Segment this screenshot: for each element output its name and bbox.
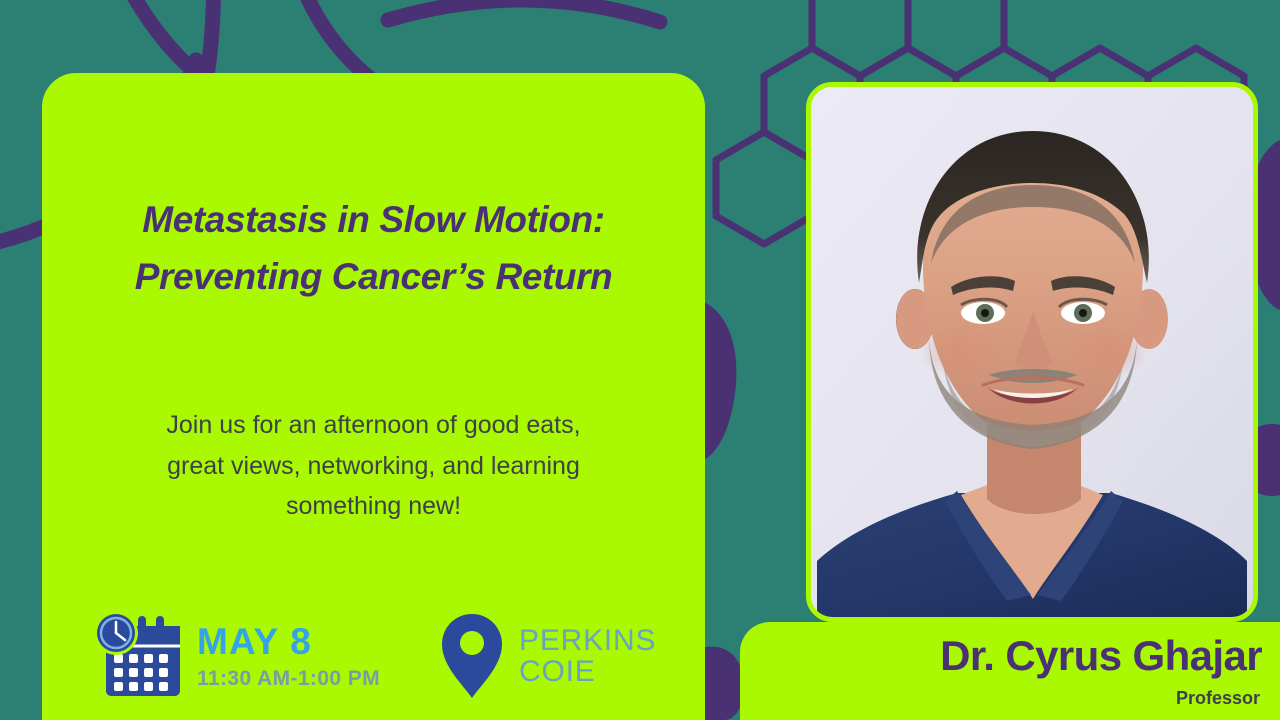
cheek-right [1067, 323, 1147, 379]
content-card: Metastasis in Slow Motion: Preventing Ca… [42, 73, 705, 720]
speaker-photo-frame [806, 82, 1258, 622]
venue-line-2: COIE [519, 656, 656, 688]
clock-icon [94, 611, 138, 655]
event-meta-row: MAY 8 11:30 AM-1:00 PM PERKINS COIE [88, 610, 656, 702]
speaker-photo [811, 87, 1253, 617]
event-title-line-1: Metastasis in Slow Motion: [66, 191, 681, 248]
event-description-line-1: Join us for an afternoon of good eats, [90, 405, 657, 446]
event-time: 11:30 AM-1:00 PM [197, 668, 380, 689]
map-pin-hole [460, 631, 484, 655]
speaker-role: Professor [1176, 688, 1260, 709]
pupil-left [981, 309, 989, 317]
date-text-block: MAY 8 11:30 AM-1:00 PM [197, 623, 380, 689]
cheek-left [919, 323, 999, 379]
calendar-clock-icon [88, 610, 184, 702]
event-description: Join us for an afternoon of good eats, g… [42, 405, 705, 527]
event-poster: Metastasis in Slow Motion: Preventing Ca… [0, 0, 1280, 720]
event-date-item: MAY 8 11:30 AM-1:00 PM [88, 610, 380, 702]
pupil-right [1079, 309, 1087, 317]
event-description-line-2: great views, networking, and learning [90, 446, 657, 487]
speaker-name: Dr. Cyrus Ghajar [940, 632, 1262, 680]
venue-line-1: PERKINS [519, 625, 656, 657]
event-date: MAY 8 [197, 623, 380, 660]
map-pin-body [442, 614, 502, 698]
map-pin-icon [438, 610, 506, 702]
event-title: Metastasis in Slow Motion: Preventing Ca… [42, 191, 705, 306]
venue-text-block: PERKINS COIE [519, 625, 656, 688]
speaker-name-card: Dr. Cyrus Ghajar Professor [740, 622, 1280, 720]
event-description-line-3: something new! [90, 486, 657, 527]
event-venue-item: PERKINS COIE [438, 610, 656, 702]
event-title-line-2: Preventing Cancer’s Return [66, 248, 681, 305]
